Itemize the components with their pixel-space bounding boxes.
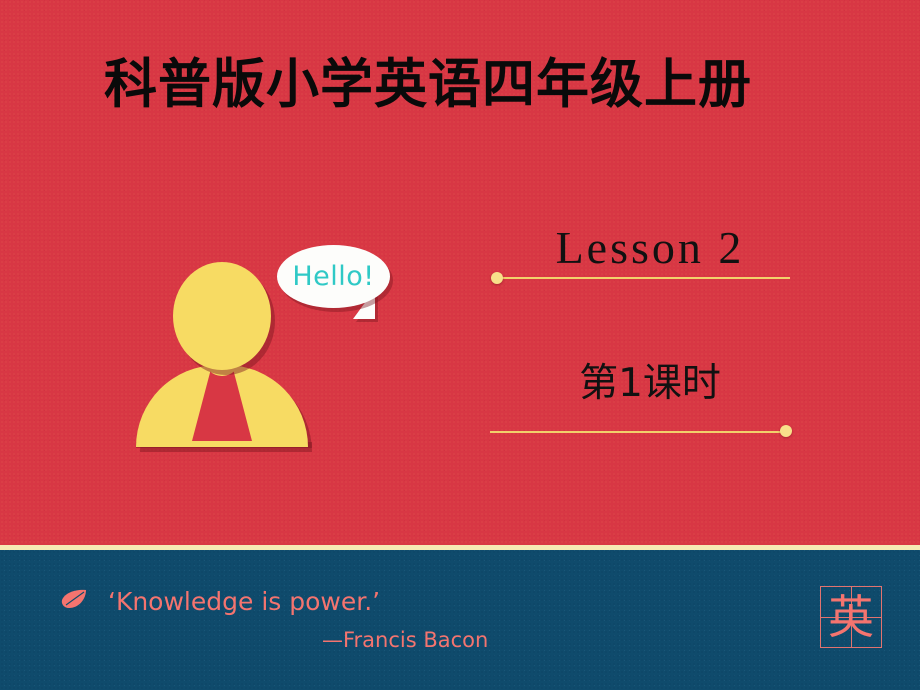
avatar-tie — [212, 365, 232, 441]
footer-texture — [0, 550, 920, 690]
period-label: 第1课时 — [500, 360, 800, 408]
avatar-collar-left — [192, 365, 212, 441]
badge-character-glyph: 英 — [821, 587, 881, 647]
page-title: 科普版小学英语四年级上册 — [104, 54, 752, 116]
avatar-collar-right — [232, 365, 252, 441]
period-underline-dot — [780, 425, 792, 437]
speech-bubble-text: Hello! — [277, 245, 390, 308]
footer-quote: ‘Knowledge is power.’ — [108, 586, 380, 618]
speech-bubble-icon: Hello! — [277, 245, 390, 317]
leaf-icon — [61, 589, 87, 609]
avatar-head — [173, 262, 271, 370]
lesson-underline — [497, 277, 790, 279]
footer-quote-author: —Francis Bacon — [322, 626, 488, 654]
lesson-underline-dot — [491, 272, 503, 284]
slide-footer — [0, 550, 920, 690]
lesson-label: Lesson 2 — [500, 222, 800, 274]
period-underline — [490, 431, 784, 433]
subject-character-badge: 英 — [820, 586, 882, 648]
presentation-slide: 科普版小学英语四年级上册 Hello! Lesson 2 第1课时 ‘Knowl… — [0, 0, 920, 690]
